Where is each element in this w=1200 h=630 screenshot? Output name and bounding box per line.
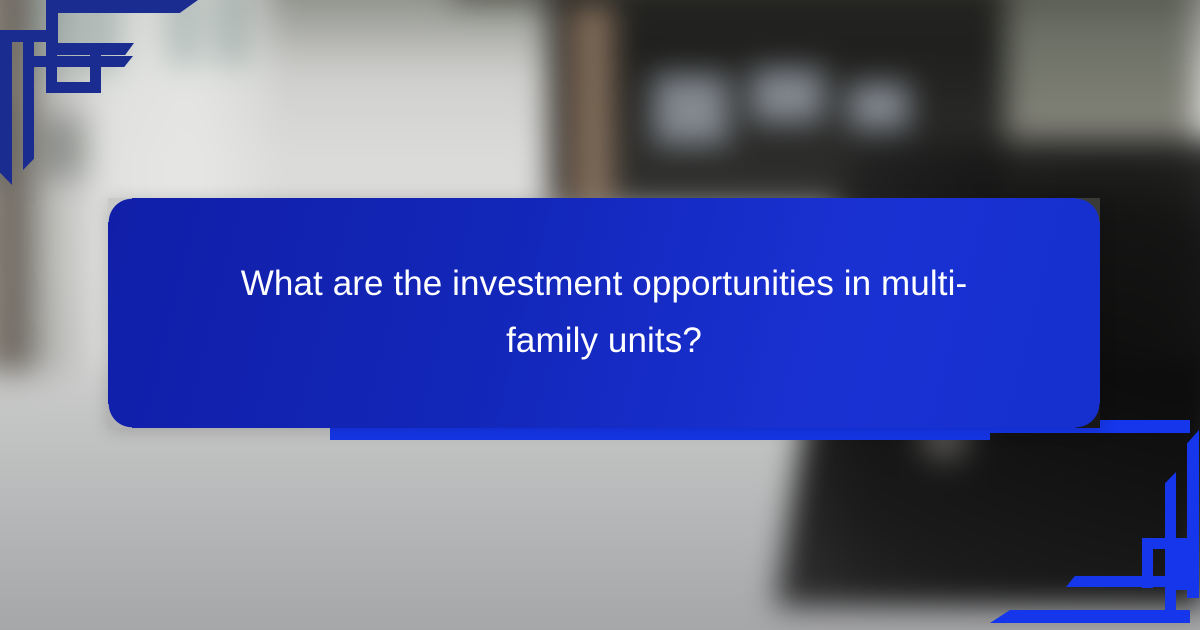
ornament-bar-hook-horizontal [0, 30, 58, 42]
ornament-square-right [90, 43, 101, 93]
ornament-bar-lower-left-extension [330, 428, 990, 440]
banner-corner-cut-bottom-left [108, 404, 132, 428]
background-window-pane [848, 83, 909, 130]
background-wood-post [562, 4, 615, 216]
corner-ornament-bottom-right [990, 420, 1200, 630]
background-window-pane [653, 74, 729, 144]
ornament-bar-third-horizontal [23, 56, 133, 67]
ornament-square-left [1142, 538, 1153, 588]
share-card-canvas: What are the investment opportunities in… [0, 0, 1200, 630]
question-banner: What are the investment opportunities in… [108, 198, 1100, 428]
background-window-pane [751, 68, 825, 123]
question-text: What are the investment opportunities in… [209, 256, 999, 369]
ornament-bar-left-inner-vertical [23, 30, 34, 170]
background-shelf-panel [214, 0, 248, 66]
corner-ornament-top-left [0, 0, 210, 200]
banner-corner-cut-top-right [1076, 198, 1100, 222]
ornament-bar-top-horizontal [46, 0, 198, 13]
ornament-bar-second-horizontal [1066, 576, 1176, 587]
banner-corner-cut-bottom-right [1076, 404, 1100, 428]
ornament-bar-bottom-horizontal [990, 610, 1190, 623]
banner-corner-cut-top-left [108, 198, 132, 222]
ornament-bar-right-outer-vertical [1187, 430, 1199, 598]
ornament-bar-left-outer-vertical [0, 30, 12, 185]
ornament-square-right [1176, 538, 1187, 590]
